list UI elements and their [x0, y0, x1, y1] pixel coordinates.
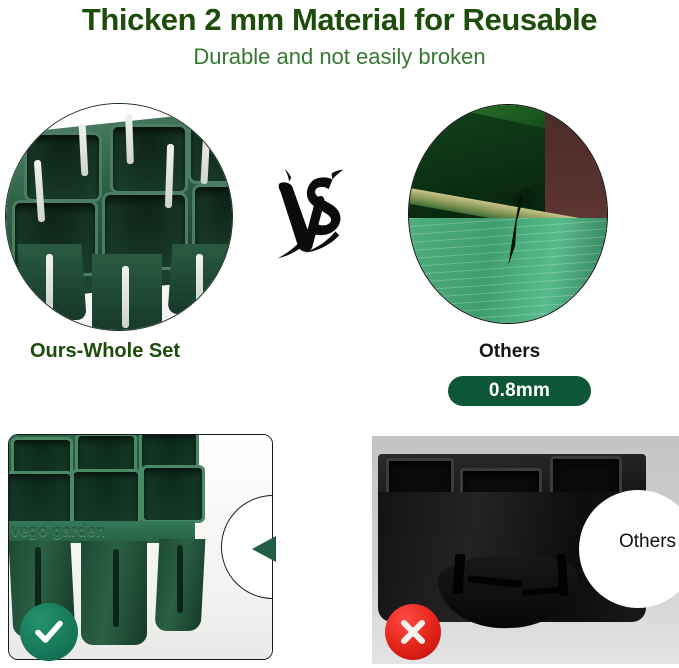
- label-others-top: Others: [479, 341, 540, 363]
- cracked-pot-illustration: [409, 105, 607, 323]
- tray-slot: [196, 254, 203, 308]
- page-subtitle: Durable and not easily broken: [0, 44, 679, 70]
- check-circle-icon: [20, 603, 78, 661]
- label-ours-whole-set: Ours-Whole Set: [30, 340, 180, 363]
- photo-ours-whole-set: [5, 103, 233, 331]
- tray-slot: [122, 266, 129, 328]
- green-tray-illustration: [6, 104, 232, 330]
- arrow-left-icon: [252, 536, 276, 562]
- thickness-badge-text: 0.8mm: [489, 380, 550, 402]
- tray-cell: [110, 124, 188, 194]
- pot-ribbed-wall: [409, 218, 607, 324]
- infographic-page: Thicken 2 mm Material for Reusable Durab…: [0, 0, 679, 668]
- tray-slot: [113, 549, 119, 627]
- tray-slot: [46, 254, 53, 310]
- page-title: Thicken 2 mm Material for Reusable: [0, 2, 679, 38]
- thickness-badge-others: 0.8mm: [448, 376, 591, 406]
- brand-emboss: vego garden: [11, 523, 136, 541]
- tray-cell: [141, 465, 205, 523]
- tray-cell: [188, 118, 233, 184]
- vs-mark: [272, 168, 368, 264]
- tray-slot: [177, 545, 183, 613]
- x-circle-icon: [385, 604, 441, 660]
- tray-cell: [71, 469, 141, 529]
- photo-others-cracked-pot: [408, 104, 608, 324]
- label-others-bottom: Others: [619, 531, 676, 553]
